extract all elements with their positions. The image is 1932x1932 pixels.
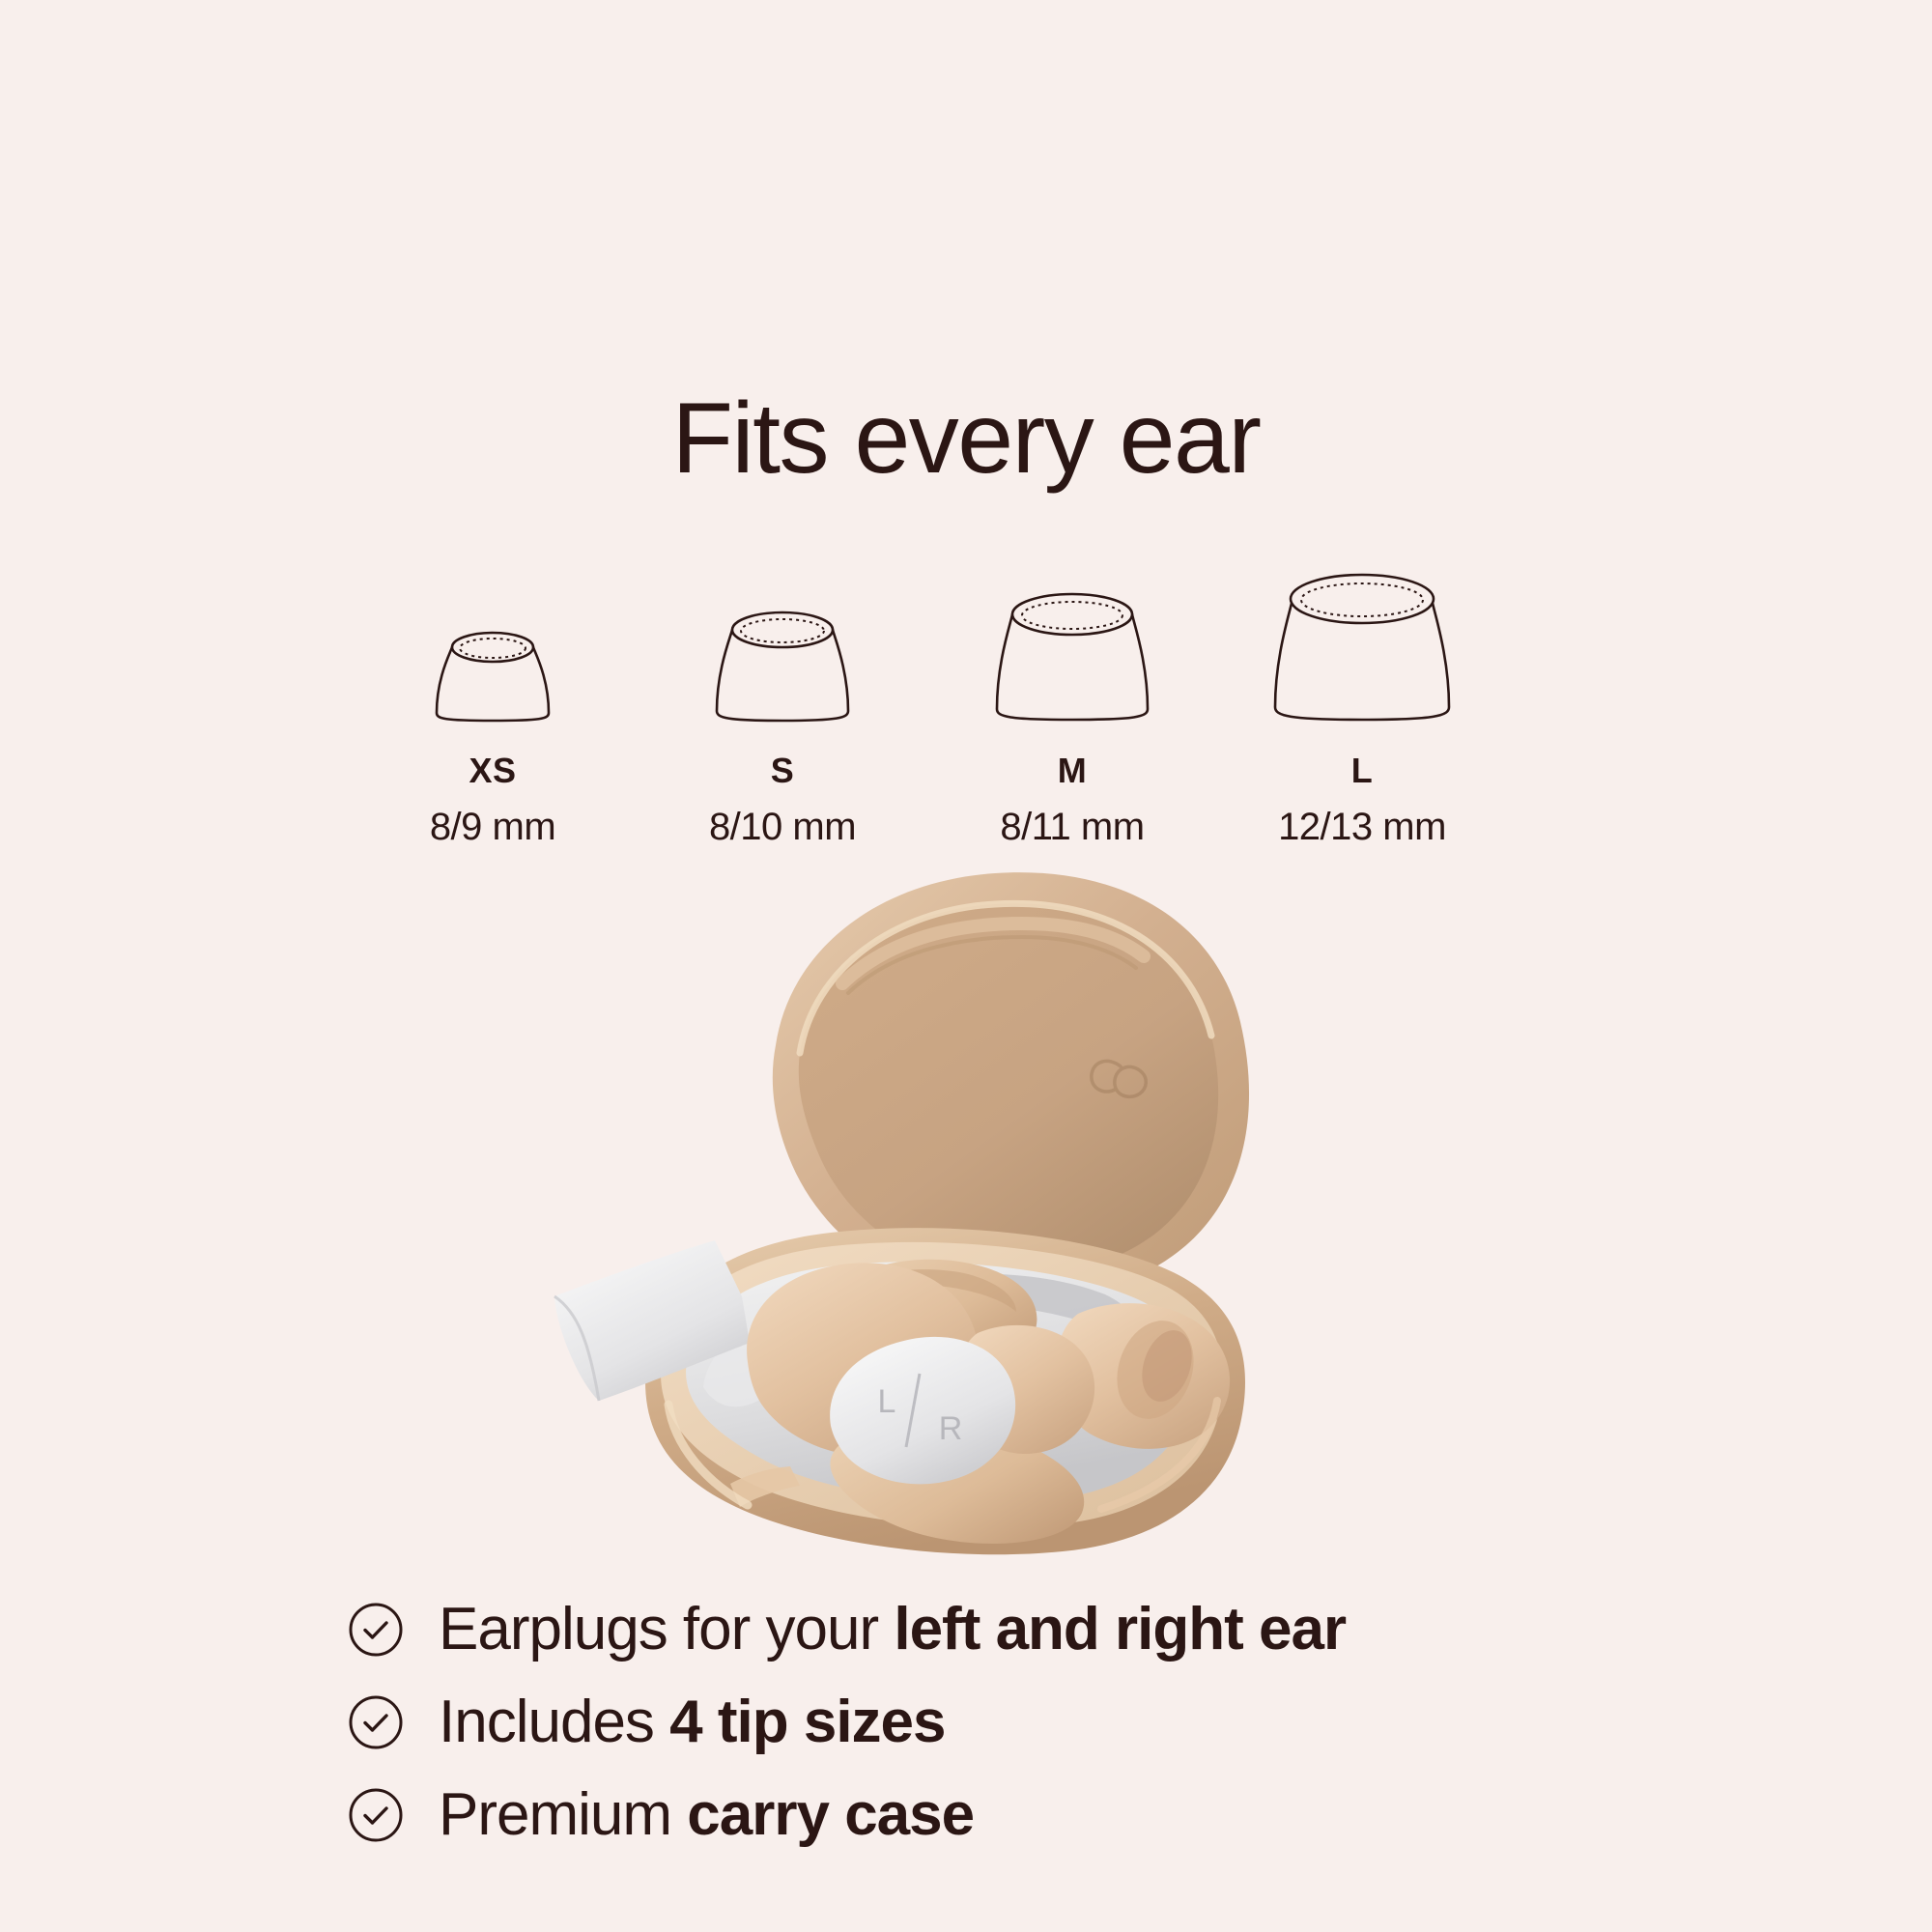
check-circle-icon bbox=[348, 1787, 404, 1843]
tip-size-label: L bbox=[1351, 753, 1374, 788]
feature-text-bold: carry case bbox=[687, 1781, 974, 1848]
list-item: Includes 4 tip sizes bbox=[348, 1685, 1623, 1760]
feature-label: Earplugs for your left and right ear bbox=[439, 1600, 1346, 1660]
product-image: L R bbox=[541, 860, 1391, 1575]
eartip-xs-icon bbox=[415, 541, 570, 724]
divider-label-left: L bbox=[878, 1383, 896, 1420]
tip-size-item: L 12/13 mm bbox=[1217, 541, 1507, 846]
eartip-m-icon bbox=[976, 541, 1169, 724]
tip-dimension-label: 8/11 mm bbox=[1000, 808, 1144, 846]
tip-size-item: S 8/10 mm bbox=[638, 541, 927, 846]
eartip-shape-s bbox=[696, 599, 869, 724]
feature-text-bold: 4 tip sizes bbox=[669, 1689, 945, 1755]
tip-size-row: XS 8/9 mm S 8/10 mm M 8/11 mm bbox=[348, 541, 1507, 846]
tip-size-item: M 8/11 mm bbox=[927, 541, 1217, 846]
check-circle-icon bbox=[348, 1694, 404, 1750]
feature-text-plain: Premium bbox=[439, 1781, 687, 1848]
tip-dimension-label: 8/9 mm bbox=[430, 808, 555, 846]
tip-size-label: S bbox=[771, 753, 795, 788]
feature-text-plain: Earplugs for your bbox=[439, 1596, 894, 1662]
case-body: L R bbox=[554, 1228, 1245, 1554]
eartip-shape-l bbox=[1256, 560, 1468, 724]
feature-label: Includes 4 tip sizes bbox=[439, 1692, 946, 1752]
check-circle-icon bbox=[348, 1602, 404, 1658]
tip-dimension-label: 12/13 mm bbox=[1278, 808, 1446, 846]
tip-size-label: M bbox=[1058, 753, 1088, 788]
feature-list: Earplugs for your left and right ear Inc… bbox=[348, 1592, 1623, 1870]
tip-dimension-label: 8/10 mm bbox=[709, 808, 856, 846]
tip-size-item: XS 8/9 mm bbox=[348, 541, 638, 846]
feature-text-bold: left and right ear bbox=[894, 1596, 1346, 1662]
tip-size-label: XS bbox=[469, 753, 516, 788]
eartip-s-icon bbox=[696, 541, 869, 724]
carry-case-illustration: L R bbox=[541, 860, 1391, 1575]
page-title: Fits every ear bbox=[0, 388, 1932, 489]
eartip-shape-m bbox=[976, 580, 1169, 724]
eartip-l-icon bbox=[1256, 541, 1468, 724]
feature-label: Premium carry case bbox=[439, 1785, 974, 1845]
divider-label-right: R bbox=[939, 1410, 963, 1447]
feature-text-plain: Includes bbox=[439, 1689, 669, 1755]
eartip-shape-xs bbox=[415, 618, 570, 724]
list-item: Premium carry case bbox=[348, 1777, 1623, 1853]
list-item: Earplugs for your left and right ear bbox=[348, 1592, 1623, 1667]
